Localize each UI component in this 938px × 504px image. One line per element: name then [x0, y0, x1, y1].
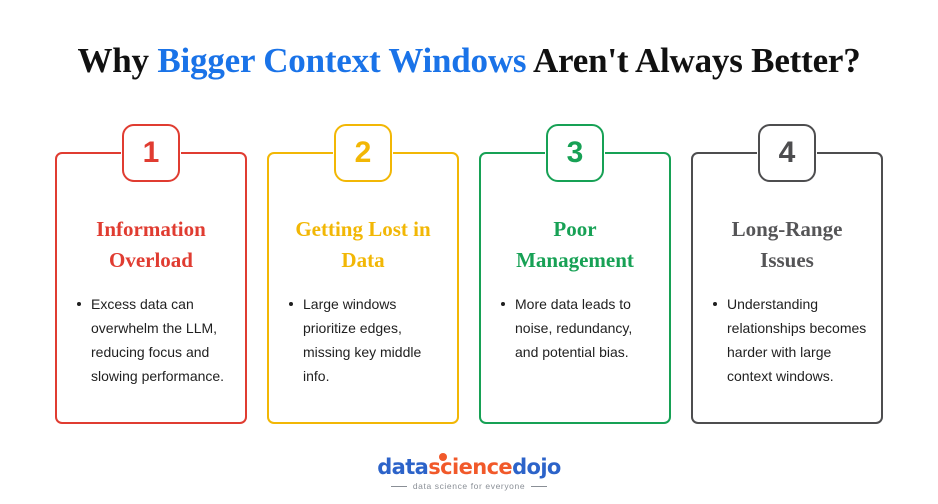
card-4-heading: Long-Range Issues [705, 214, 869, 276]
logo-tagline-row: data science for everyone [0, 481, 938, 492]
card-1-bullet-list: Excess data can overwhelm the LLM, reduc… [75, 292, 233, 388]
card-3: 3 Poor Management More data leads to noi… [479, 124, 671, 424]
card-3-number-badge: 3 [546, 124, 604, 182]
page-title-part1: Why [77, 41, 157, 80]
card-1-number: 1 [143, 138, 160, 168]
card-1: 1 Information Overload Excess data can o… [55, 124, 247, 424]
card-4-bullet-item: Understanding relationships becomes hard… [711, 292, 869, 388]
logo-word-data: data [377, 455, 428, 479]
card-3-content: Poor Management More data leads to noise… [479, 152, 671, 424]
card-2-bullet-item: Large windows prioritize edges, missing … [287, 292, 445, 388]
card-3-bullet-item: More data leads to noise, redundancy, an… [499, 292, 657, 364]
card-4-bullet-list: Understanding relationships becomes hard… [711, 292, 869, 388]
cards-row: 1 Information Overload Excess data can o… [55, 124, 883, 424]
card-3-number: 3 [567, 138, 584, 168]
card-2-number-badge: 2 [334, 124, 392, 182]
logo-wordmark: datasciencedojo [377, 456, 561, 478]
card-3-bullet-list: More data leads to noise, redundancy, an… [499, 292, 657, 364]
page-title-container: Why Bigger Context Windows Aren't Always… [0, 40, 938, 82]
brand-logo: datasciencedojo data science for everyon… [0, 456, 938, 492]
page-title: Why Bigger Context Windows Aren't Always… [0, 40, 938, 82]
card-4: 4 Long-Range Issues Understanding relati… [691, 124, 883, 424]
card-2-heading: Getting Lost in Data [281, 214, 445, 276]
page-title-highlight: Bigger Context Windows [157, 41, 526, 80]
card-2-content: Getting Lost in Data Large windows prior… [267, 152, 459, 424]
card-2: 2 Getting Lost in Data Large windows pri… [267, 124, 459, 424]
tagline-dash-left-icon [391, 486, 407, 487]
logo-tagline-text: data science for everyone [413, 481, 525, 491]
card-2-number: 2 [355, 138, 372, 168]
card-3-heading: Poor Management [493, 214, 657, 276]
card-1-bullet-item: Excess data can overwhelm the LLM, reduc… [75, 292, 233, 388]
card-4-content: Long-Range Issues Understanding relation… [691, 152, 883, 424]
card-1-content: Information Overload Excess data can ove… [55, 152, 247, 424]
logo-word-dojo: dojo [512, 455, 561, 479]
card-1-number-badge: 1 [122, 124, 180, 182]
card-2-bullet-list: Large windows prioritize edges, missing … [287, 292, 445, 388]
tagline-dash-right-icon [531, 486, 547, 487]
card-1-heading: Information Overload [69, 214, 233, 276]
card-4-number: 4 [779, 138, 796, 168]
card-4-number-badge: 4 [758, 124, 816, 182]
page-title-part2: Aren't Always Better? [526, 41, 860, 80]
